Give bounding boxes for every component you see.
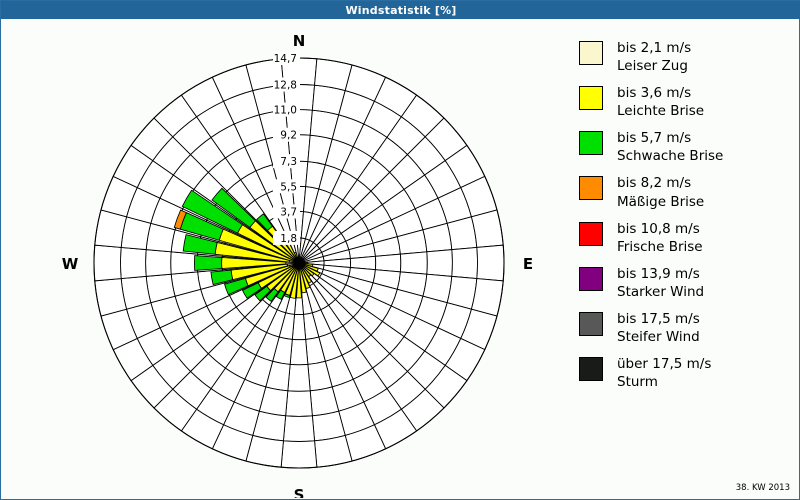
legend-item[interactable]: bis 13,9 m/sStarker Wind (579, 265, 795, 301)
legend-label: bis 13,9 m/sStarker Wind (617, 265, 704, 301)
radial-tick-label: 9,2 (280, 130, 297, 142)
grid-cell (288, 364, 310, 391)
legend-speed-range: bis 5,7 m/s (617, 130, 691, 146)
legend-label: bis 8,2 m/sMäßige Brise (617, 174, 704, 210)
legend-speed-range: bis 13,9 m/s (617, 266, 700, 282)
legend-speed-range: bis 2,1 m/s (617, 40, 691, 56)
legend-speed-range: bis 10,8 m/s (617, 221, 700, 237)
compass-label-north: N (293, 32, 306, 50)
legend-color-swatch (579, 357, 603, 381)
legend-label: bis 17,5 m/sSteifer Wind (617, 310, 700, 346)
legend-color-swatch (579, 131, 603, 155)
legend-description: Starker Wind (617, 283, 704, 301)
grid-cell (283, 416, 314, 442)
wind-rose-chart: 1,83,75,57,39,211,012,814,7 NESW (1, 20, 567, 498)
legend-description: Sturm (617, 373, 711, 391)
legend-color-swatch (579, 86, 603, 110)
legend-color-swatch (579, 312, 603, 336)
legend-speed-range: bis 8,2 m/s (617, 175, 691, 191)
legend-description: Mäßige Brise (617, 193, 704, 211)
compass-label-west: W (62, 255, 79, 273)
legend-description: Schwache Brise (617, 147, 723, 165)
grid-cell (171, 252, 198, 274)
legend-speed-range: bis 3,6 m/s (617, 85, 691, 101)
legend-item[interactable]: bis 2,1 m/sLeiser Zug (579, 39, 795, 75)
legend-color-swatch (579, 222, 603, 246)
legend-label: bis 2,1 m/sLeiser Zug (617, 39, 691, 75)
radial-tick-label: 5,5 (280, 181, 297, 193)
legend-item[interactable]: bis 10,8 m/sFrische Brise (579, 220, 795, 256)
legend-label: bis 5,7 m/sSchwache Brise (617, 129, 723, 165)
legend-item[interactable]: bis 8,2 m/sMäßige Brise (579, 174, 795, 210)
legend-speed-range: bis 17,5 m/s (617, 311, 700, 327)
legend-item[interactable]: bis 17,5 m/sSteifer Wind (579, 310, 795, 346)
wind-statistics-window: Windstatistik [%] 1,83,75,57,39,211,012,… (0, 0, 800, 500)
grid-cell (290, 339, 308, 364)
legend-item[interactable]: über 17,5 m/sSturm (579, 355, 795, 391)
legend-color-swatch (579, 41, 603, 65)
window-title: Windstatistik [%] (345, 4, 456, 17)
legend-item[interactable]: bis 3,6 m/sLeichte Brise (579, 84, 795, 120)
grid-cell (452, 247, 478, 278)
legend-label: bis 10,8 m/sFrische Brise (617, 220, 703, 256)
rose-center (298, 262, 300, 264)
wind-rose-plot-area: 1,83,75,57,39,211,012,814,7 NESW (1, 20, 567, 498)
legend-description: Leiser Zug (617, 57, 691, 75)
legend-item[interactable]: bis 5,7 m/sSchwache Brise (579, 129, 795, 165)
legend-label: über 17,5 m/sSturm (617, 355, 711, 391)
radial-tick-label: 1,8 (280, 233, 297, 245)
legend-speed-range: über 17,5 m/s (617, 356, 711, 372)
legend-description: Frische Brise (617, 238, 703, 256)
grid-cell (286, 391, 313, 417)
legend-color-swatch (579, 267, 603, 291)
radial-tick-label: 3,7 (280, 206, 297, 218)
radial-tick-label: 7,3 (280, 156, 297, 168)
footer-week-label: 38. KW 2013 (736, 483, 790, 493)
grid-cell (427, 250, 453, 277)
compass-label-south: S (294, 486, 305, 498)
grid-cell (400, 252, 427, 274)
radial-tick-label: 12,8 (274, 79, 297, 91)
legend-label: bis 3,6 m/sLeichte Brise (617, 84, 704, 120)
grid-cell (477, 245, 504, 281)
wind-petal-segment (194, 256, 221, 271)
radial-tick-label: 11,0 (274, 105, 297, 117)
grid-cell (94, 245, 121, 281)
grid-cell (146, 250, 172, 277)
legend-description: Steifer Wind (617, 328, 700, 346)
window-title-bar: Windstatistik [%] (1, 1, 800, 19)
legend-description: Leichte Brise (617, 102, 704, 120)
radial-tick-label: 14,7 (274, 53, 297, 65)
compass-label-east: E (523, 255, 533, 273)
grid-cell (120, 247, 146, 278)
legend: bis 2,1 m/sLeiser Zugbis 3,6 m/sLeichte … (579, 39, 795, 400)
legend-color-swatch (579, 176, 603, 200)
grid-cell (375, 254, 400, 272)
grid-cell (281, 441, 317, 468)
